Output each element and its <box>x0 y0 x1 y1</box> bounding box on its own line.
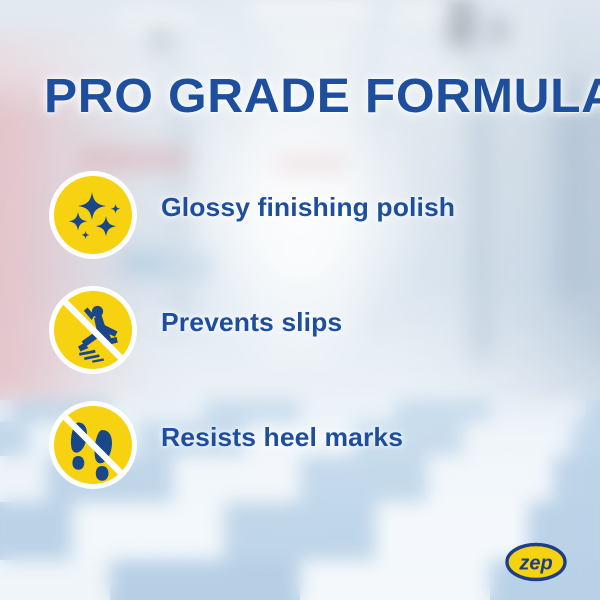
list-item: Prevents slips <box>0 291 600 406</box>
feature-list: Glossy finishing polish <box>0 176 600 521</box>
no-slipping-icon <box>54 291 132 369</box>
sparkle-icon <box>54 176 132 254</box>
no-heel-marks-icon <box>54 406 132 484</box>
poster-content: PRO GRADE FORMULA <box>0 0 600 600</box>
list-item: Resists heel marks <box>0 406 600 521</box>
feature-label: Prevents slips <box>161 307 342 338</box>
page-title: PRO GRADE FORMULA <box>44 72 582 122</box>
list-item: Glossy finishing polish <box>0 176 600 291</box>
product-feature-poster: PRO GRADE FORMULA <box>0 0 600 600</box>
feature-label: Resists heel marks <box>161 422 403 453</box>
zep-logo-wordmark: zep <box>518 553 552 575</box>
zep-logo: zep <box>505 542 567 582</box>
feature-label: Glossy finishing polish <box>161 192 455 223</box>
